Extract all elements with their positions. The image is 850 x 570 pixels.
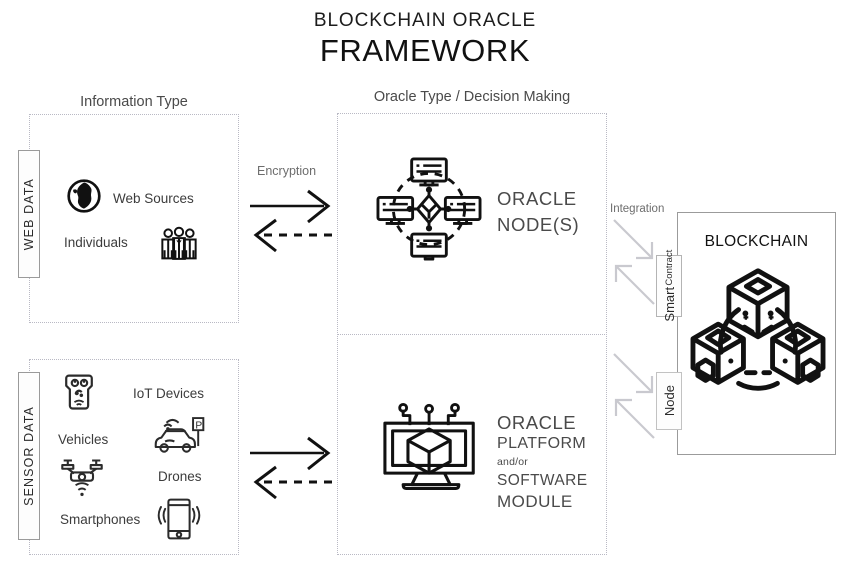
oracle-platform-line-3: and/or [497, 455, 587, 471]
oracle-platform-text: ORACLE PLATFORM and/or SOFTWARE MODULE [497, 411, 587, 513]
smart-device-icon [58, 372, 100, 414]
oracle-platform-line-2: PLATFORM [497, 434, 587, 455]
oracle-nodes-line-2: NODE(S) [497, 212, 579, 238]
web-sources-label: Web Sources [113, 191, 194, 206]
platform-arrow-pair [248, 432, 340, 500]
integration-label: Integration [610, 203, 664, 215]
monitor-cube-icon [381, 404, 481, 500]
oracle-nodes-line-1: ORACLE [497, 186, 579, 212]
title-line-1: BLOCKCHAIN ORACLE [0, 10, 850, 32]
smart-contract-line-2: Contract [664, 250, 675, 286]
web-data-vertical-label: WEB DATA [18, 150, 40, 278]
iot-devices-label: IoT Devices [133, 386, 204, 401]
smartphones-label: Smartphones [60, 512, 140, 527]
people-group-icon [160, 226, 198, 262]
sensor-data-vertical-label: SENSOR DATA [18, 372, 40, 540]
blockchain-title: BLOCKCHAIN [677, 233, 836, 251]
oracle-platform-line-4: SOFTWARE [497, 471, 587, 491]
oracle-platform-line-5: MODULE [497, 491, 587, 513]
information-type-header: Information Type [28, 94, 240, 110]
oracle-type-header: Oracle Type / Decision Making [337, 89, 607, 105]
integration-arrow-smart-contract [608, 216, 664, 312]
oracle-platform-line-1: ORACLE [497, 411, 587, 434]
page-title: BLOCKCHAIN ORACLE FRAMEWORK [0, 10, 850, 69]
oracle-panel-divider [337, 334, 607, 335]
web-data-panel [29, 114, 239, 323]
smartphone-signal-icon [155, 495, 203, 543]
connected-car-icon: P [152, 410, 208, 456]
encryption-label: Encryption [257, 164, 316, 178]
oracle-node-network-icon [377, 157, 481, 261]
drones-label: Drones [158, 469, 202, 484]
globe-icon [66, 178, 102, 214]
web-data-label-text: WEB DATA [22, 178, 36, 250]
diagram-canvas: BLOCKCHAIN ORACLE FRAMEWORK Information … [0, 0, 850, 570]
oracle-nodes-text: ORACLE NODE(S) [497, 186, 579, 237]
individuals-label: Individuals [64, 235, 128, 250]
blockchain-cubes-icon [692, 263, 824, 395]
encryption-arrow-pair [248, 185, 340, 253]
drone-icon [58, 455, 106, 499]
svg-text:P: P [195, 420, 202, 431]
integration-arrow-node [608, 350, 664, 446]
title-line-2: FRAMEWORK [0, 33, 850, 69]
vehicles-label: Vehicles [58, 432, 108, 447]
sensor-data-label-text: SENSOR DATA [22, 406, 36, 506]
